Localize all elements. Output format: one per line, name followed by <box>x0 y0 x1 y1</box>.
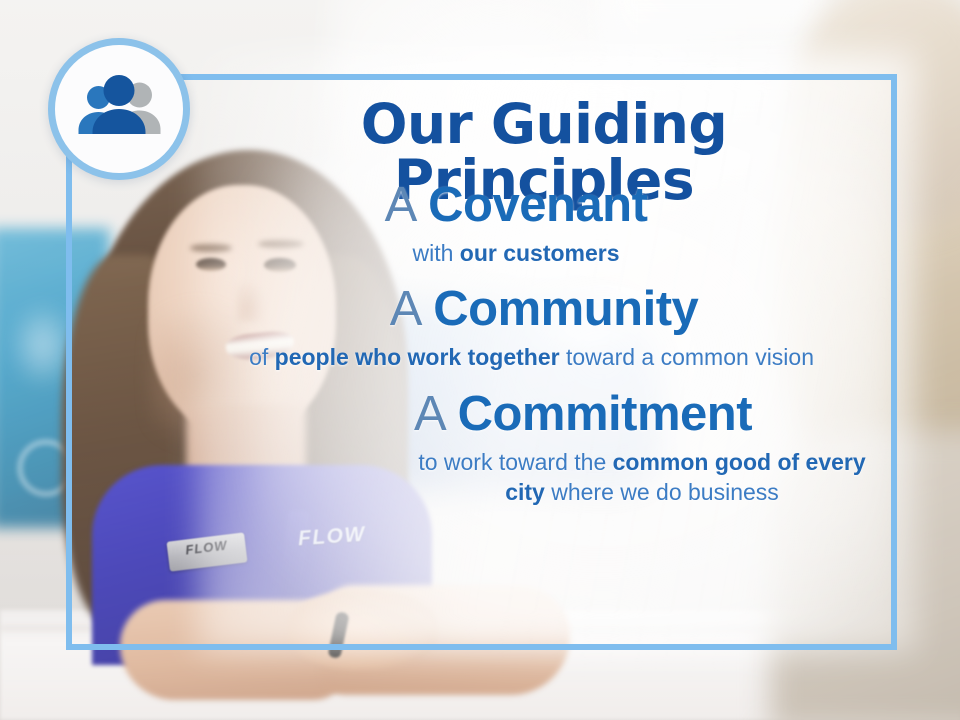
principle-word: Covenant <box>428 178 647 232</box>
principle-article: A <box>385 178 415 232</box>
principle-subtext: of people who work together toward a com… <box>212 342 876 372</box>
people-badge <box>48 38 190 180</box>
people-group-icon <box>69 72 169 146</box>
principle-title: A Commitment <box>282 389 884 441</box>
principle-commitment: A Commitment to work toward the common g… <box>212 389 884 508</box>
principle-subtext: with our customers <box>212 238 820 268</box>
guiding-principles-graphic: FLOW FLOW Our Guiding Pr <box>0 0 960 720</box>
shirt-logo: FLOW <box>297 523 366 552</box>
principle-title: A Covenant <box>212 180 820 232</box>
principle-word: Commitment <box>458 387 752 441</box>
associate-clasped-hands <box>288 590 438 670</box>
principle-article: A <box>414 387 444 441</box>
principle-title: A Community <box>212 284 876 336</box>
principle-covenant: A Covenant with our customers <box>212 180 884 268</box>
principle-article: A <box>390 282 420 336</box>
principle-subtext: to work toward the common good of every … <box>282 447 884 508</box>
principle-community: A Community of people who work together … <box>212 284 884 372</box>
principle-word: Community <box>433 282 698 336</box>
principles-list: A Covenant with our customers A Communit… <box>212 180 884 523</box>
